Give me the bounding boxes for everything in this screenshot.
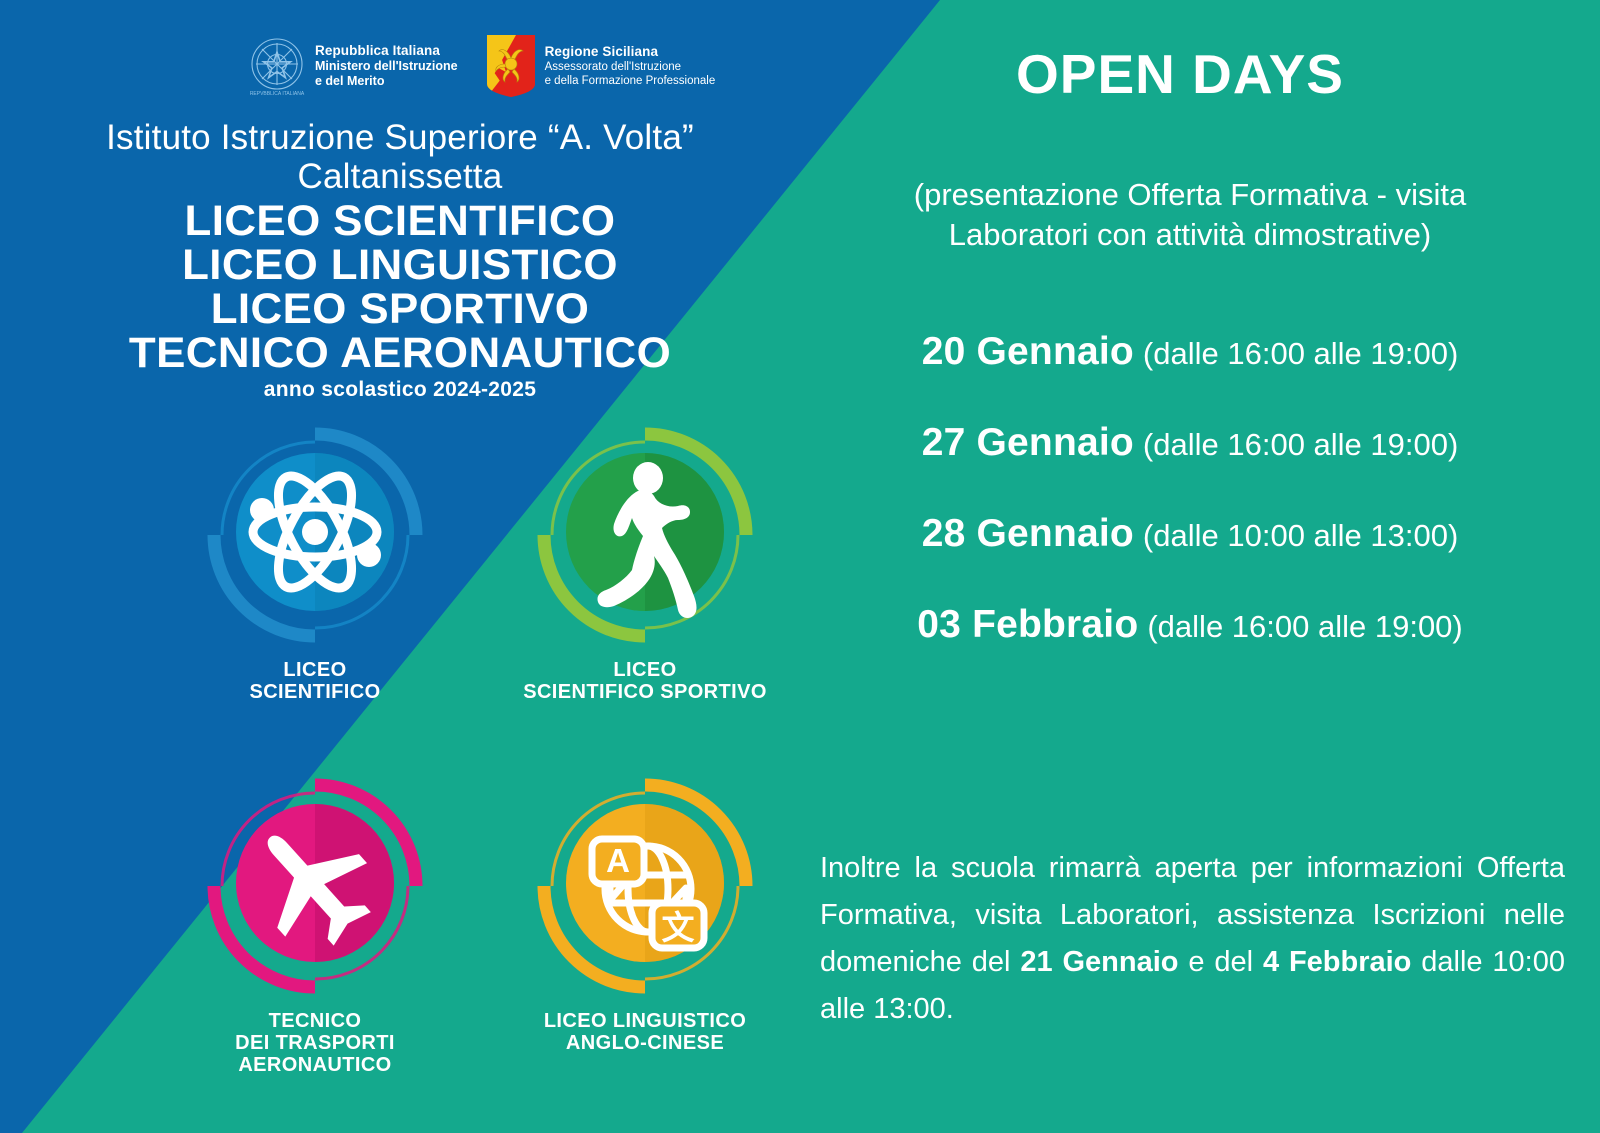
region-line-1: Regione Siciliana [545,44,716,60]
school-name-line-1: Istituto Istruzione Superiore “A. Volta” [0,118,800,157]
left-column: REPVBBLICA ITALIANA Repubblica Italiana … [0,0,820,1133]
course-list: LICEO SCIENTIFICO LICEO LINGUISTICO LICE… [0,200,800,375]
ministry-logo-text: Repubblica Italiana Ministero dell'Istru… [315,43,458,90]
ministry-line-2: Ministero dell'Istruzione [315,59,458,74]
course-item-2: LICEO SPORTIVO [0,288,808,332]
note-bold-date-2: 4 Febbraio [1263,946,1411,978]
note-bold-date-1: 21 Gennaio [1020,946,1178,978]
italian-republic-emblem-icon: REPVBBLICA ITALIANA [248,35,306,97]
page-title: OPEN DAYS [810,42,1550,106]
airplane-icon [200,771,430,1006]
date-row: 20 Gennaio(dalle 16:00 alle 19:00) [810,330,1570,374]
badge-liceo-linguistico: A 文 LICEO LINGUISTICO ANGLO-CINESE [480,771,810,1076]
region-line-2: Assessorato dell'Istruzione [545,60,716,74]
date-label: 28 Gennaio [922,512,1134,555]
badge-airplane-graphic [200,771,430,1006]
region-logo: Regione Siciliana Assessorato dell'Istru… [486,34,716,98]
event-subtitle: (presentazione Offerta Formativa - visit… [860,175,1520,256]
badge-atom-graphic [200,420,430,655]
badge-label-liceo-linguistico: LICEO LINGUISTICO ANGLO-CINESE [544,1010,746,1054]
course-badges: LICEO SCIENTIFICO [150,420,810,1076]
badge-tecnico-aeronautico: TECNICO DEI TRASPORTI AERONAUTICO [150,771,480,1076]
course-item-0: LICEO SCIENTIFICO [0,200,808,244]
course-item-1: LICEO LINGUISTICO [0,244,808,288]
badge-translate-graphic: A 文 [530,771,760,1006]
badge-label-liceo-sportivo: LICEO SCIENTIFICO SPORTIVO [523,659,767,703]
region-logo-text: Regione Siciliana Assessorato dell'Istru… [545,44,716,89]
school-year: anno scolastico 2024-2025 [0,378,800,402]
atom-icon [200,420,430,655]
event-date-list: 20 Gennaio(dalle 16:00 alle 19:00) 27 Ge… [810,330,1570,694]
badge-row-bottom: TECNICO DEI TRASPORTI AERONAUTICO [150,771,810,1076]
date-label: 03 Febbraio [917,603,1138,646]
date-label: 20 Gennaio [922,330,1134,373]
sicilian-region-shield-icon [486,34,536,98]
translate-globe-icon: A 文 [530,771,760,1006]
runner-icon [530,420,760,655]
additional-info-note: Inoltre la scuola rimarrà aperta per inf… [820,845,1565,1033]
date-time: (dalle 16:00 alle 19:00) [1143,336,1458,371]
date-time: (dalle 10:00 alle 13:00) [1143,518,1458,553]
badge-liceo-sportivo: LICEO SCIENTIFICO SPORTIVO [480,420,810,703]
open-days-poster: REPVBBLICA ITALIANA Repubblica Italiana … [0,0,1600,1133]
badge-runner-graphic [530,420,760,655]
note-part-2: e del [1178,946,1262,978]
ministry-line-1: Repubblica Italiana [315,43,458,59]
institutional-logos: REPVBBLICA ITALIANA Repubblica Italiana … [248,34,715,98]
ministry-line-3: e del Merito [315,74,458,89]
region-line-3: e della Formazione Professionale [545,74,716,88]
date-row: 28 Gennaio(dalle 10:00 alle 13:00) [810,512,1570,556]
date-time: (dalle 16:00 alle 19:00) [1143,427,1458,462]
date-label: 27 Gennaio [922,421,1134,464]
date-time: (dalle 16:00 alle 19:00) [1147,609,1462,644]
badge-label-liceo-scientifico: LICEO SCIENTIFICO [249,659,380,703]
date-row: 03 Febbraio(dalle 16:00 alle 19:00) [810,603,1570,647]
course-item-3: TECNICO AERONAUTICO [0,332,808,376]
badge-label-tecnico-aeronautico: TECNICO DEI TRASPORTI AERONAUTICO [235,1010,395,1076]
svg-text:文: 文 [662,909,695,946]
right-column: OPEN DAYS (presentazione Offerta Formati… [810,0,1600,1133]
school-name: Istituto Istruzione Superiore “A. Volta”… [0,118,800,196]
date-row: 27 Gennaio(dalle 16:00 alle 19:00) [810,421,1570,465]
svg-text:A: A [606,842,630,879]
school-name-line-2: Caltanissetta [0,157,800,196]
svg-text:REPVBBLICA ITALIANA: REPVBBLICA ITALIANA [250,91,305,97]
badge-liceo-scientifico: LICEO SCIENTIFICO [150,420,480,703]
ministry-logo: REPVBBLICA ITALIANA Repubblica Italiana … [248,35,458,97]
badge-row-top: LICEO SCIENTIFICO [150,420,810,703]
